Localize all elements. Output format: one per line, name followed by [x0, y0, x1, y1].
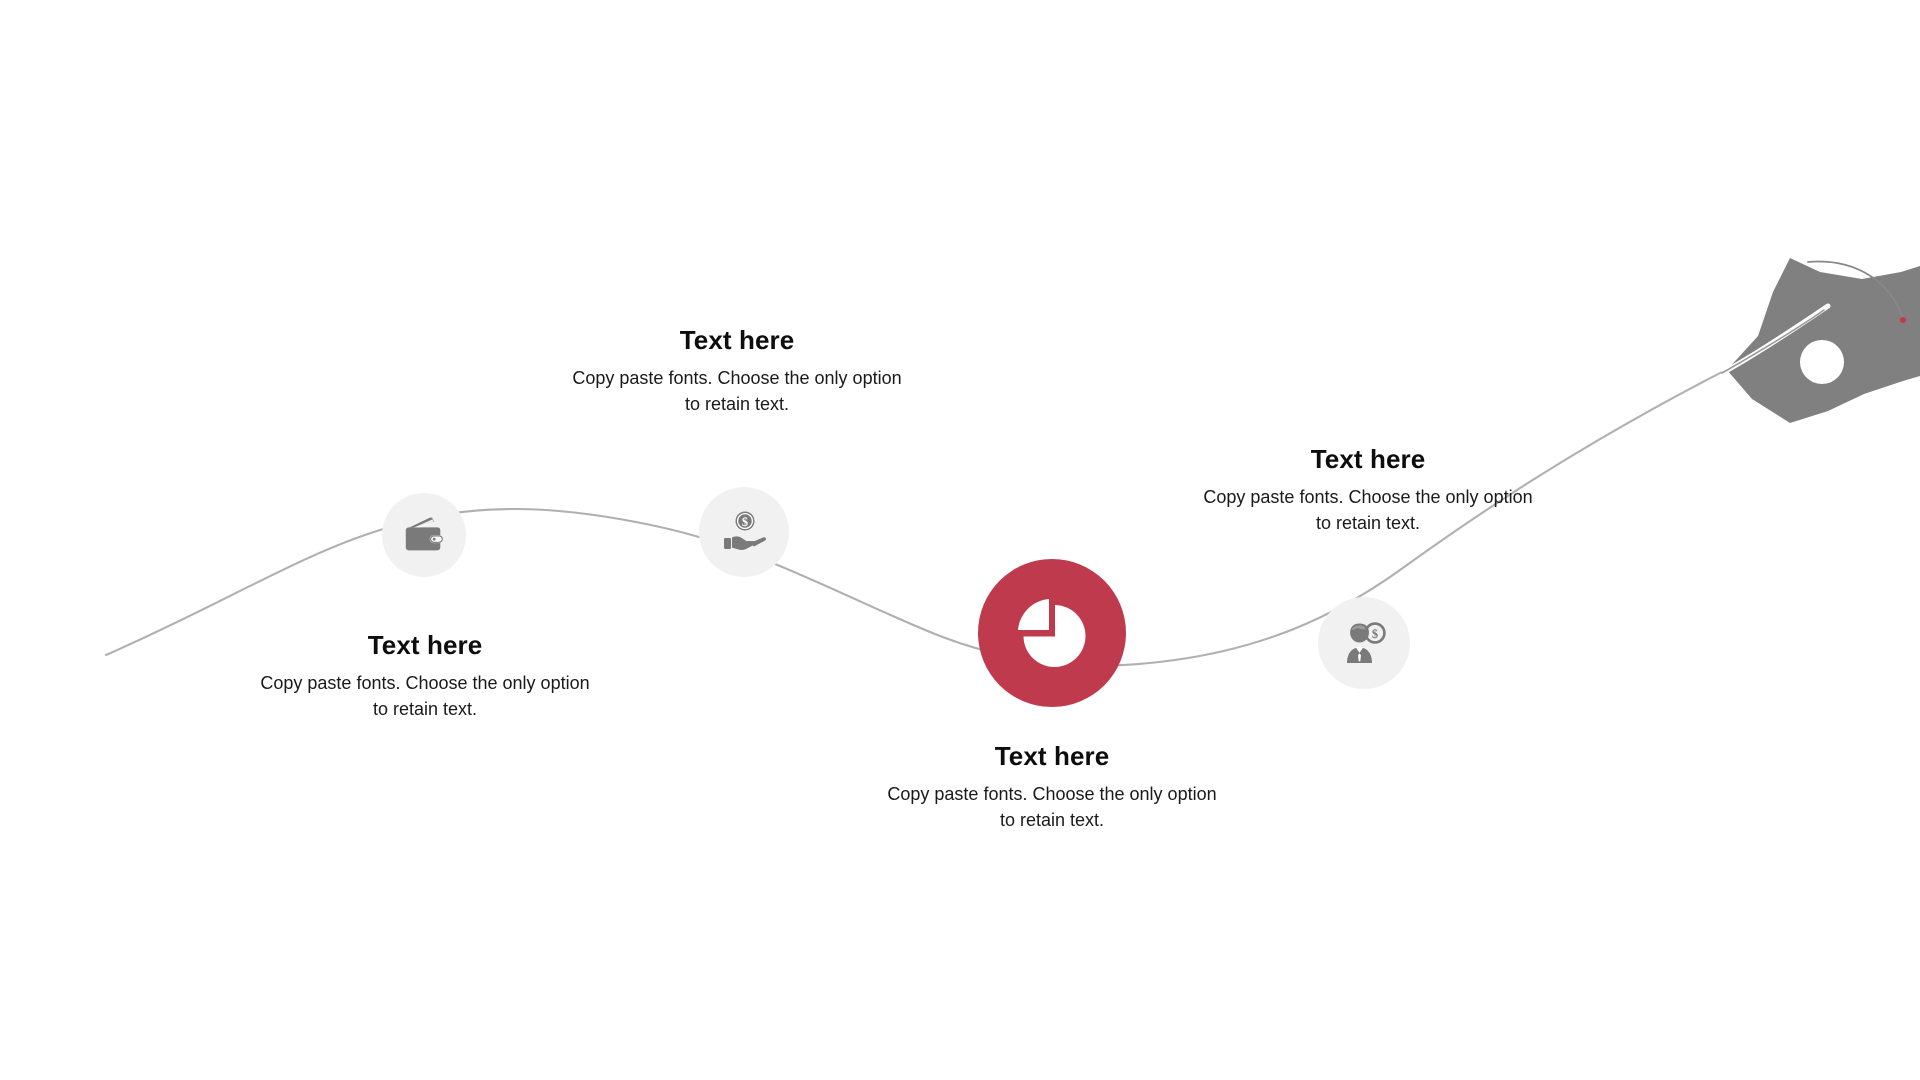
step-label-1: Text here Copy paste fonts. Choose the o… — [255, 630, 595, 722]
step-body-2: Copy paste fonts. Choose the only option… — [567, 366, 907, 417]
businessperson-with-dollar-coin-icon: $ — [1339, 618, 1389, 668]
pen-nib-layer — [0, 0, 1920, 1080]
step-node-2[interactable]: $ — [699, 487, 789, 577]
step-node-4[interactable]: $ — [1318, 597, 1410, 689]
svg-text:$: $ — [742, 515, 748, 529]
pen-arc-accent — [1808, 262, 1903, 318]
hand-holding-dollar-coin-icon: $ — [720, 508, 768, 556]
wallet-icon — [401, 512, 447, 558]
step-label-4: Text here Copy paste fonts. Choose the o… — [1198, 444, 1538, 536]
step-node-1[interactable] — [382, 493, 466, 577]
fountain-pen-nib-icon — [1722, 258, 1920, 423]
step-body-1: Copy paste fonts. Choose the only option… — [255, 671, 595, 722]
step-label-3: Text here Copy paste fonts. Choose the o… — [882, 741, 1222, 833]
step-label-2: Text here Copy paste fonts. Choose the o… — [567, 325, 907, 417]
pen-arc-dot — [1900, 317, 1906, 323]
step-title-2: Text here — [567, 325, 907, 356]
step-node-3[interactable] — [978, 559, 1126, 707]
step-title-3: Text here — [882, 741, 1222, 772]
step-body-3: Copy paste fonts. Choose the only option… — [882, 782, 1222, 833]
step-body-4: Copy paste fonts. Choose the only option… — [1198, 485, 1538, 536]
step-title-1: Text here — [255, 630, 595, 661]
svg-text:$: $ — [1372, 627, 1378, 641]
infographic-canvas: $ $ Text here Copy paste fonts. Choose t… — [0, 0, 1920, 1080]
flow-line-layer — [0, 0, 1920, 1080]
pie-chart-icon — [1010, 591, 1094, 675]
step-title-4: Text here — [1198, 444, 1538, 475]
